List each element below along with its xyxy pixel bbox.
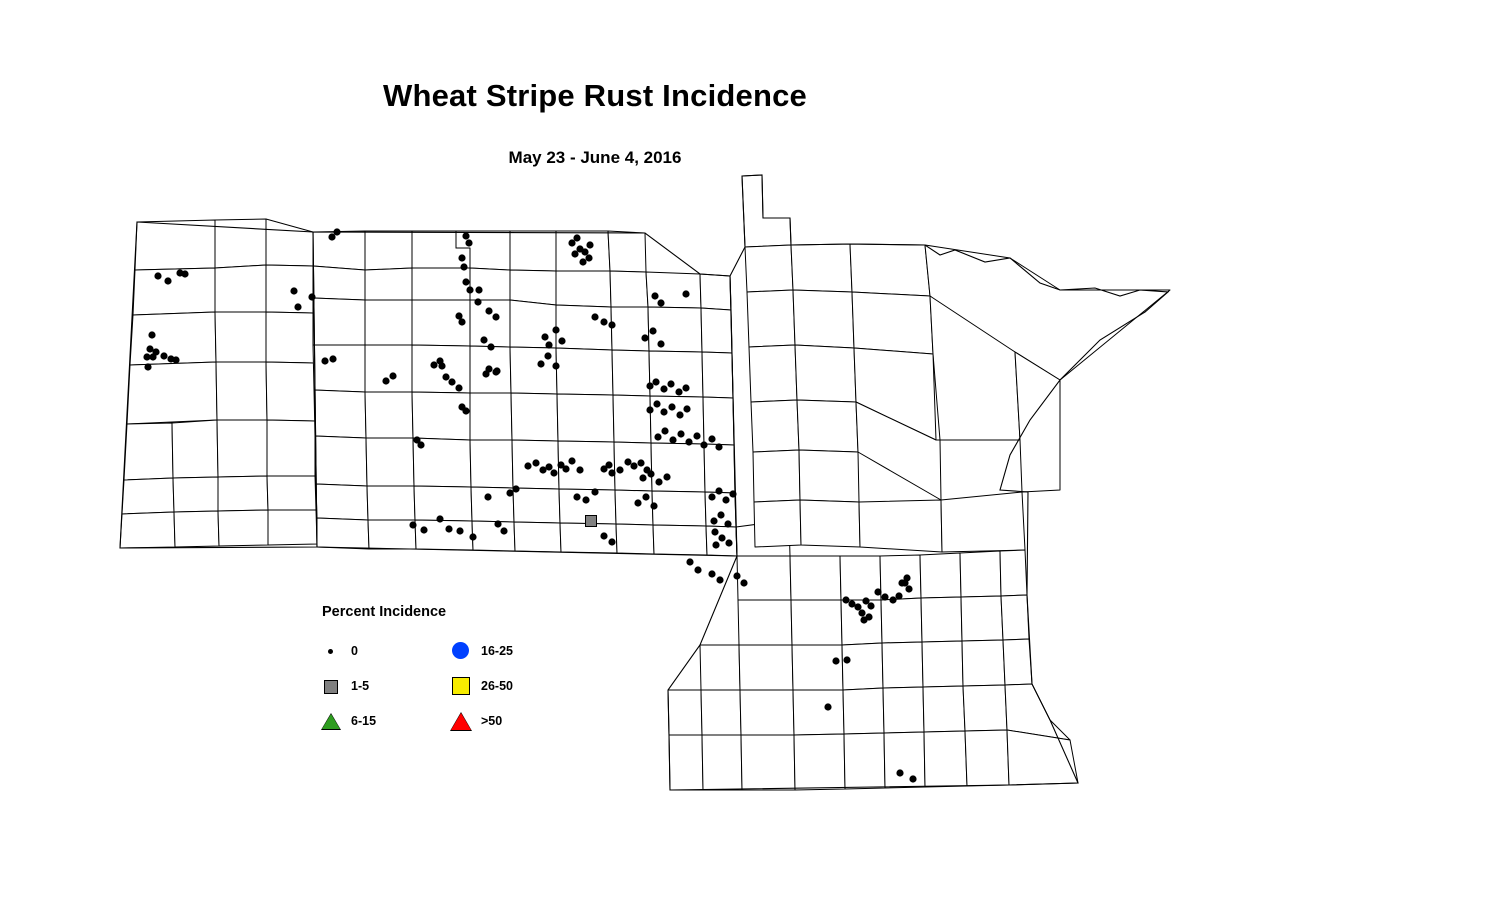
incidence-point-0 <box>469 533 476 540</box>
incidence-point-0 <box>708 570 715 577</box>
incidence-point-0 <box>532 459 539 466</box>
legend-item-6-15[interactable]: 6-15 <box>320 710 376 732</box>
incidence-point-0 <box>909 775 916 782</box>
montana-counties <box>120 219 317 548</box>
incidence-point-0 <box>683 405 690 412</box>
incidence-point-0 <box>848 600 855 607</box>
incidence-point-0 <box>661 427 668 434</box>
incidence-point-0 <box>585 254 592 261</box>
incidence-point-0 <box>647 470 654 477</box>
incidence-point-0 <box>708 435 715 442</box>
incidence-point-0 <box>717 511 724 518</box>
incidence-point-0 <box>591 488 598 495</box>
incidence-point-0 <box>494 520 501 527</box>
incidence-point-0 <box>711 528 718 535</box>
map-canvas <box>0 0 1503 900</box>
incidence-point-0 <box>740 579 747 586</box>
incidence-point-0 <box>148 331 155 338</box>
incidence-point-0 <box>605 461 612 468</box>
incidence-point-0 <box>682 290 689 297</box>
incidence-point-0 <box>484 493 491 500</box>
incidence-point-0 <box>582 496 589 503</box>
incidence-point-0 <box>417 441 424 448</box>
incidence-point-0 <box>663 473 670 480</box>
incidence-point-0 <box>436 515 443 522</box>
incidence-point-0 <box>294 303 301 310</box>
incidence-point-0 <box>895 592 902 599</box>
incidence-point-0 <box>328 233 335 240</box>
gray-square-icon <box>320 675 342 697</box>
legend-label-26-50: 26-50 <box>481 679 513 693</box>
legend-label-over-50: >50 <box>481 714 502 728</box>
incidence-point-1-5 <box>586 516 597 527</box>
incidence-point-0 <box>715 443 722 450</box>
incidence-point-0 <box>677 430 684 437</box>
incidence-point-0 <box>657 299 664 306</box>
incidence-point-0 <box>573 493 580 500</box>
legend-items: 0 1-5 6-15 16-25 26-50 <box>320 640 550 740</box>
incidence-point-0 <box>455 384 462 391</box>
incidence-point-0 <box>712 541 719 548</box>
incidence-point-0 <box>608 538 615 545</box>
incidence-point-0 <box>867 602 874 609</box>
incidence-point-0 <box>725 539 732 546</box>
legend-item-26-50[interactable]: 26-50 <box>450 675 513 697</box>
incidence-point-0 <box>591 313 598 320</box>
incidence-point-0 <box>903 574 910 581</box>
incidence-point-0 <box>466 286 473 293</box>
incidence-point-0 <box>465 239 472 246</box>
incidence-point-0 <box>389 372 396 379</box>
incidence-point-0 <box>562 465 569 472</box>
incidence-point-0 <box>445 525 452 532</box>
incidence-point-0 <box>552 362 559 369</box>
county-map-svg <box>0 0 1503 900</box>
incidence-point-0 <box>485 307 492 314</box>
incidence-point-0 <box>552 326 559 333</box>
red-triangle-icon <box>450 710 472 732</box>
legend-label-1-5: 1-5 <box>351 679 369 693</box>
incidence-point-0 <box>637 459 644 466</box>
incidence-point-0 <box>420 526 427 533</box>
incidence-point-0 <box>646 406 653 413</box>
incidence-point-0 <box>657 340 664 347</box>
incidence-point-0 <box>586 241 593 248</box>
incidence-point-0 <box>608 469 615 476</box>
map-page: Wheat Stripe Rust Incidence May 23 - Jun… <box>0 0 1503 900</box>
incidence-point-0 <box>708 493 715 500</box>
incidence-point-0 <box>669 436 676 443</box>
legend: Percent Incidence 0 1-5 6-15 16-25 <box>320 604 550 739</box>
legend-label-6-15: 6-15 <box>351 714 376 728</box>
incidence-point-0 <box>480 336 487 343</box>
incidence-point-0 <box>660 385 667 392</box>
incidence-point-0 <box>541 333 548 340</box>
incidence-point-0 <box>537 360 544 367</box>
incidence-point-0 <box>430 361 437 368</box>
incidence-point-0 <box>500 527 507 534</box>
incidence-point-0 <box>686 558 693 565</box>
incidence-point-0 <box>881 593 888 600</box>
legend-title: Percent Incidence <box>322 604 550 620</box>
incidence-point-0 <box>722 496 729 503</box>
incidence-point-0 <box>154 272 161 279</box>
incidence-point-0 <box>682 384 689 391</box>
incidence-point-0 <box>655 478 662 485</box>
green-triangle-icon <box>320 710 342 732</box>
incidence-point-0 <box>487 343 494 350</box>
incidence-point-0 <box>442 373 449 380</box>
incidence-point-0 <box>545 341 552 348</box>
incidence-point-0 <box>858 609 865 616</box>
yellow-square-icon <box>450 675 472 697</box>
incidence-point-0 <box>860 616 867 623</box>
incidence-point-0 <box>545 463 552 470</box>
incidence-point-0 <box>716 576 723 583</box>
incidence-point-0 <box>710 517 717 524</box>
incidence-point-0 <box>458 254 465 261</box>
legend-label-16-25: 16-25 <box>481 644 513 658</box>
incidence-point-0 <box>724 520 731 527</box>
incidence-point-0 <box>641 334 648 341</box>
incidence-point-0 <box>492 368 499 375</box>
incidence-point-0 <box>524 462 531 469</box>
incidence-point-0 <box>568 457 575 464</box>
blue-circle-icon <box>450 640 472 662</box>
incidence-point-0 <box>842 596 849 603</box>
incidence-point-0 <box>492 313 499 320</box>
incidence-point-0 <box>573 234 580 241</box>
incidence-point-0 <box>448 378 455 385</box>
incidence-point-0 <box>646 382 653 389</box>
incidence-point-0 <box>905 585 912 592</box>
incidence-point-0 <box>832 657 839 664</box>
incidence-point-0 <box>667 380 674 387</box>
incidence-point-0 <box>651 292 658 299</box>
incidence-point-0 <box>329 355 336 362</box>
incidence-point-0 <box>290 287 297 294</box>
incidence-point-0 <box>181 270 188 277</box>
incidence-point-0 <box>693 432 700 439</box>
incidence-point-0 <box>733 572 740 579</box>
incidence-point-0 <box>506 489 513 496</box>
incidence-point-0 <box>685 438 692 445</box>
incidence-point-0 <box>485 365 492 372</box>
incidence-point-0 <box>694 566 701 573</box>
incidence-point-0 <box>652 378 659 385</box>
incidence-point-0 <box>616 466 623 473</box>
incidence-point-0 <box>544 352 551 359</box>
incidence-point-0 <box>874 588 881 595</box>
incidence-point-0 <box>653 400 660 407</box>
dot-icon <box>320 640 342 662</box>
incidence-point-0 <box>896 769 903 776</box>
incidence-point-0 <box>660 408 667 415</box>
incidence-point-0 <box>550 469 557 476</box>
incidence-point-0 <box>160 352 167 359</box>
incidence-point-0 <box>630 462 637 469</box>
legend-item-0[interactable]: 0 <box>320 640 358 662</box>
legend-label-0: 0 <box>351 644 358 658</box>
incidence-point-0 <box>462 232 469 239</box>
incidence-point-0 <box>462 278 469 285</box>
incidence-point-0 <box>579 258 586 265</box>
incidence-point-0 <box>382 377 389 384</box>
incidence-point-0 <box>649 327 656 334</box>
incidence-point-0 <box>639 474 646 481</box>
incidence-point-0 <box>438 362 445 369</box>
incidence-point-0 <box>321 357 328 364</box>
incidence-point-0 <box>715 487 722 494</box>
incidence-point-0 <box>558 337 565 344</box>
incidence-point-0 <box>576 466 583 473</box>
incidence-point-0 <box>308 293 315 300</box>
incidence-point-0 <box>718 534 725 541</box>
incidence-point-0 <box>824 703 831 710</box>
incidence-point-0 <box>600 532 607 539</box>
incidence-point-0 <box>650 502 657 509</box>
incidence-point-0 <box>149 353 156 360</box>
incidence-point-0 <box>676 411 683 418</box>
incidence-point-0 <box>172 356 179 363</box>
incidence-point-0 <box>144 363 151 370</box>
legend-item-16-25[interactable]: 16-25 <box>450 640 513 662</box>
incidence-point-0 <box>843 656 850 663</box>
minnesota-counties <box>668 175 1170 790</box>
incidence-point-0 <box>634 499 641 506</box>
legend-item-1-5[interactable]: 1-5 <box>320 675 369 697</box>
incidence-point-0 <box>600 318 607 325</box>
north-dakota-counties <box>313 231 737 556</box>
incidence-point-0 <box>624 458 631 465</box>
incidence-point-0 <box>675 388 682 395</box>
incidence-point-0 <box>668 403 675 410</box>
incidence-point-0 <box>462 407 469 414</box>
incidence-point-0 <box>654 433 661 440</box>
incidence-point-0 <box>474 298 481 305</box>
incidence-point-0 <box>581 248 588 255</box>
incidence-point-0 <box>475 286 482 293</box>
incidence-point-0 <box>729 490 736 497</box>
incidence-point-0 <box>608 321 615 328</box>
incidence-point-0 <box>456 527 463 534</box>
incidence-point-0 <box>460 263 467 270</box>
incidence-point-0 <box>889 596 896 603</box>
legend-item-over-50[interactable]: >50 <box>450 710 502 732</box>
incidence-point-0 <box>409 521 416 528</box>
incidence-point-0 <box>700 441 707 448</box>
incidence-point-0 <box>642 493 649 500</box>
incidence-point-0 <box>512 485 519 492</box>
incidence-point-0 <box>164 277 171 284</box>
incidence-point-0 <box>458 318 465 325</box>
